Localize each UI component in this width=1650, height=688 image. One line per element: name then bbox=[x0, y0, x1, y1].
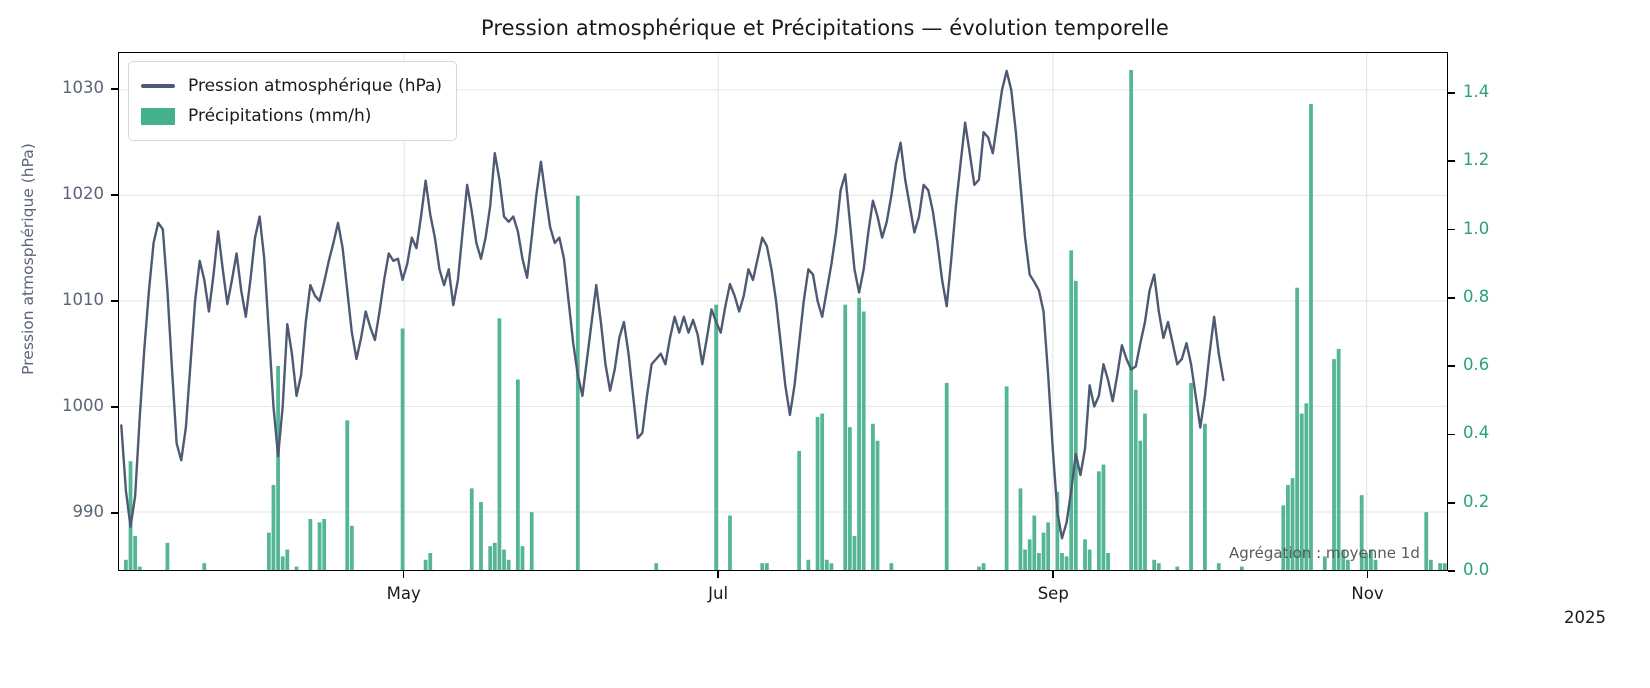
legend-label-pressure: Pression atmosphérique (hPa) bbox=[188, 76, 442, 96]
aggregation-annotation: Agrégation : moyenne 1d bbox=[1229, 544, 1420, 562]
y-axis-right-tick-mark bbox=[1448, 365, 1455, 367]
y-axis-right-tick-mark bbox=[1448, 229, 1455, 231]
page-title: Pression atmosphérique et Précipitations… bbox=[0, 16, 1650, 40]
x-axis-tick-label: Sep bbox=[1003, 584, 1103, 603]
y-axis-right-tick-mark bbox=[1448, 570, 1455, 572]
legend-label-precipitation: Précipitations (mm/h) bbox=[188, 106, 371, 126]
y-axis-right-tick-label: 0.0 bbox=[1463, 560, 1523, 579]
y-axis-left-tick-mark bbox=[111, 300, 118, 302]
y-axis-right-tick-mark bbox=[1448, 92, 1455, 94]
chart-root: Pression atmosphérique et Précipitations… bbox=[0, 0, 1650, 688]
y-axis-left-tick-mark bbox=[111, 512, 118, 514]
y-axis-right-tick-label: 0.6 bbox=[1463, 355, 1523, 374]
y-axis-left-tick-label: 990 bbox=[24, 502, 104, 521]
y-axis-left-tick-label: 1020 bbox=[24, 184, 104, 203]
x-axis-year-label: 2025 bbox=[1564, 608, 1606, 627]
y-axis-left-tick-mark bbox=[111, 88, 118, 90]
y-axis-right-tick-mark bbox=[1448, 434, 1455, 436]
y-axis-left-tick-label: 1010 bbox=[24, 290, 104, 309]
y-axis-left-tick-mark bbox=[111, 406, 118, 408]
y-axis-left-tick-mark bbox=[111, 194, 118, 196]
y-axis-right-tick-mark bbox=[1448, 502, 1455, 504]
bar-swatch-icon bbox=[141, 108, 175, 125]
x-axis-tick-mark bbox=[403, 571, 405, 578]
x-axis-tick-label: Jul bbox=[668, 584, 768, 603]
x-axis-tick-mark bbox=[717, 571, 719, 578]
legend[interactable]: Pression atmosphérique (hPa) Précipitati… bbox=[128, 61, 457, 141]
x-axis-tick-label: May bbox=[354, 584, 454, 603]
y-axis-right-tick-mark bbox=[1448, 297, 1455, 299]
y-axis-right-tick-label: 1.4 bbox=[1463, 82, 1523, 101]
legend-item-pressure[interactable]: Pression atmosphérique (hPa) bbox=[141, 71, 442, 101]
legend-item-precipitation[interactable]: Précipitations (mm/h) bbox=[141, 101, 442, 131]
x-axis-tick-label: Nov bbox=[1318, 584, 1418, 603]
x-axis-tick-mark bbox=[1367, 571, 1369, 578]
y-axis-right-tick-label: 1.0 bbox=[1463, 219, 1523, 238]
y-axis-left-tick-label: 1030 bbox=[24, 78, 104, 97]
y-axis-right-tick-label: 1.2 bbox=[1463, 150, 1523, 169]
line-swatch-icon bbox=[141, 84, 175, 88]
y-axis-right-tick-label: 0.8 bbox=[1463, 287, 1523, 306]
pressure-line-path bbox=[121, 71, 1223, 538]
y-axis-left-tick-label: 1000 bbox=[24, 396, 104, 415]
x-axis-tick-mark bbox=[1052, 571, 1054, 578]
y-axis-right-tick-label: 0.2 bbox=[1463, 492, 1523, 511]
y-axis-right-tick-label: 0.4 bbox=[1463, 423, 1523, 442]
y-axis-right-tick-mark bbox=[1448, 160, 1455, 162]
